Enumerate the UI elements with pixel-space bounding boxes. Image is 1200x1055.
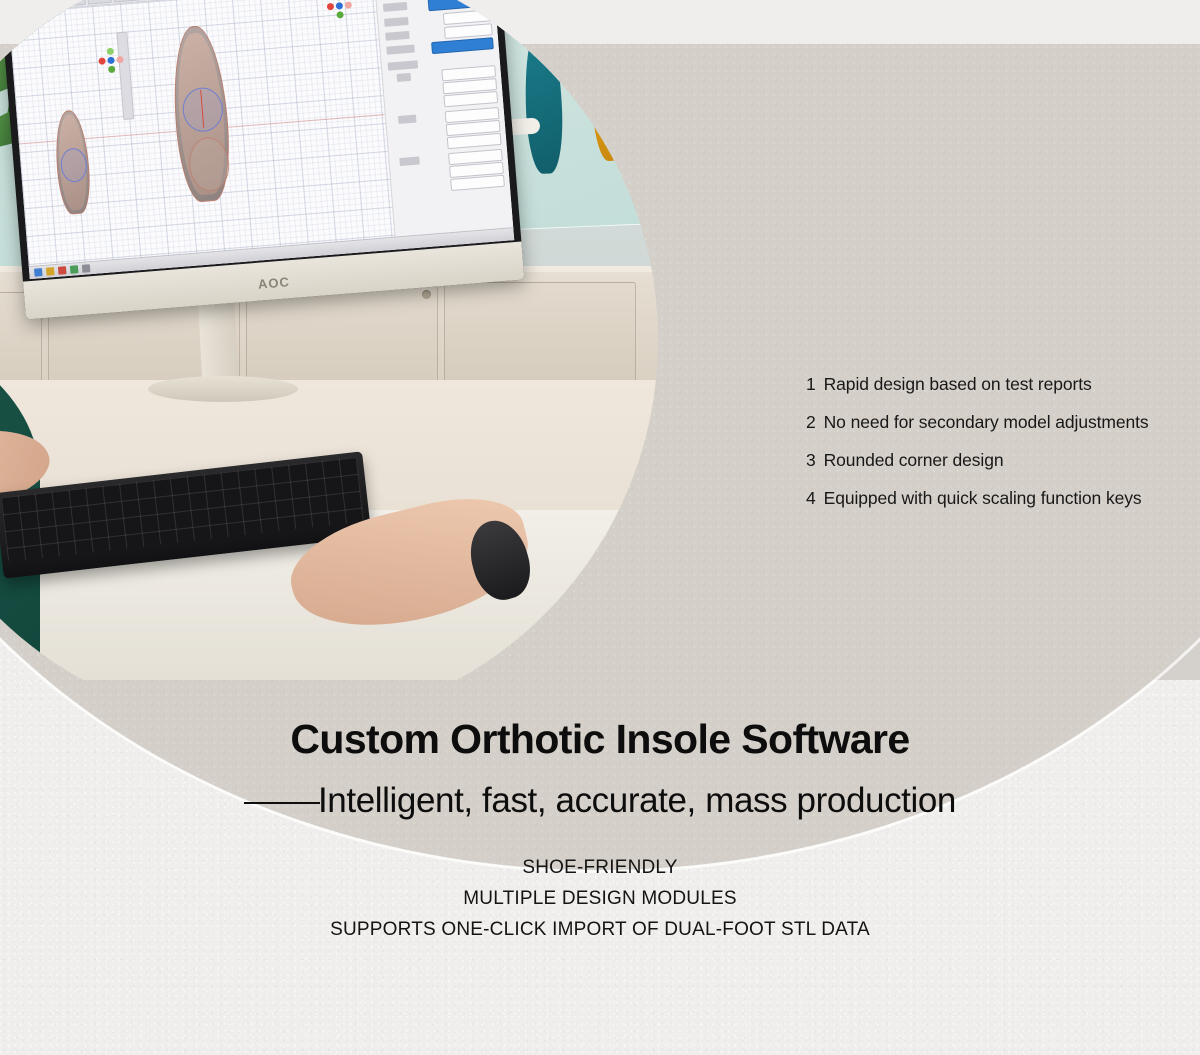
feature-list: 1 Rapid design based on test reports 2 N… [806,374,1194,526]
taskbar-icon[interactable] [34,268,43,277]
cad-properties-panel[interactable] [374,0,513,238]
feature-number: 4 [806,488,816,509]
em-dash-rule [244,802,320,804]
cad-axis-gizmo[interactable] [97,46,125,74]
page-title: Custom Orthotic Insole Software [0,716,1200,763]
feature-item: 3 Rounded corner design [806,450,1194,488]
spec-line: MULTIPLE DESIGN MODULES [0,883,1200,914]
feature-item: 1 Rapid design based on test reports [806,374,1194,412]
feature-number: 1 [806,374,816,395]
feature-text: No need for secondary model adjustments [824,412,1149,433]
feature-item: 4 Equipped with quick scaling function k… [806,488,1194,526]
page-subtitle-row: Intelligent, fast, accurate, mass produc… [0,781,1200,821]
toolbar-button[interactable] [113,0,142,2]
panel-field[interactable] [443,9,492,25]
monitor-brand-label: AOC [257,274,290,292]
feature-text: Equipped with quick scaling function key… [824,488,1142,509]
panel-primary-button[interactable] [428,0,491,11]
feature-number: 2 [806,412,816,433]
spec-list: SHOE-FRIENDLY MULTIPLE DESIGN MODULES SU… [0,852,1200,945]
panel-field[interactable] [444,23,493,39]
spec-line: SHOE-FRIENDLY [0,852,1200,883]
monitor-screen [7,0,514,279]
cad-axis-gizmo[interactable] [326,0,354,19]
hero-photo: AOC [0,0,800,680]
spec-line: SUPPORTS ONE-CLICK IMPORT OF DUAL-FOOT S… [0,914,1200,945]
feature-item: 2 No need for secondary model adjustment… [806,412,1194,450]
monitor: AOC [0,0,524,320]
taskbar-icon[interactable] [46,267,55,276]
monitor-stand-base [148,376,298,402]
feature-number: 3 [806,450,816,471]
toolbar-button[interactable] [61,0,86,7]
cad-application [7,0,514,279]
toolbar-button[interactable] [87,0,112,5]
toolbar-button[interactable] [37,0,60,9]
taskbar-icon[interactable] [82,264,91,273]
taskbar-icon[interactable] [58,266,67,275]
toolbar-button[interactable] [13,0,36,10]
feature-text: Rapid design based on test reports [824,374,1092,395]
panel-primary-button[interactable] [431,37,494,54]
page-subtitle: Intelligent, fast, accurate, mass produc… [318,781,956,821]
taskbar-icon[interactable] [70,265,79,274]
feature-text: Rounded corner design [824,450,1004,471]
